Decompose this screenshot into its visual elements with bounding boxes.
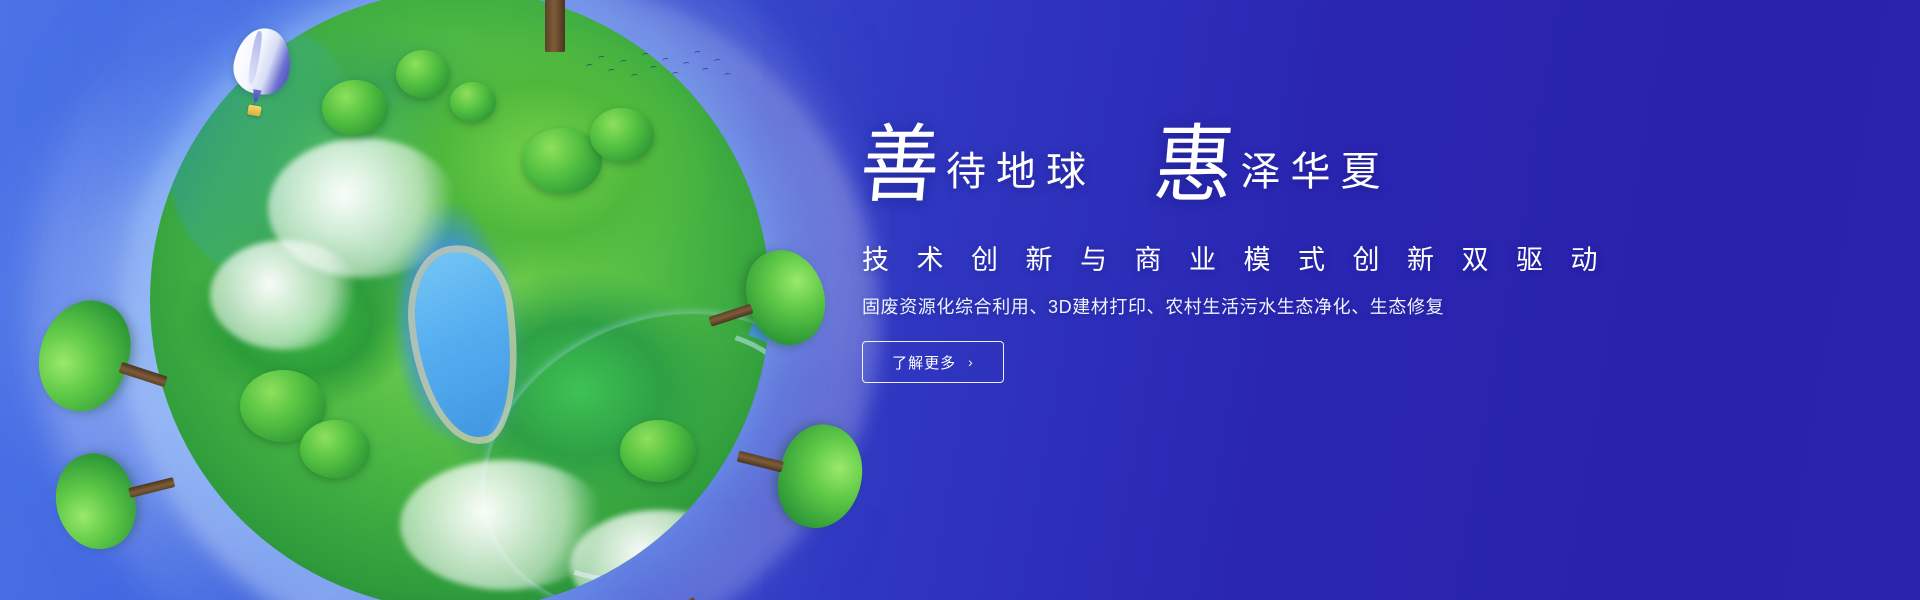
bush-icon [590,108,654,162]
learn-more-label: 了解更多 [892,352,956,373]
bush-icon [396,50,450,98]
balloon-basket [247,105,262,117]
tree-trunk [119,362,168,387]
headline-lead-char-2: 惠 [1151,123,1237,208]
headline-rest-2: 泽华夏 [1240,152,1390,192]
tree-trunk [737,451,784,473]
hero-description: 固废资源化综合利用、3D建材打印、农村生活污水生态净化、生态修复 [862,293,1762,319]
chevron-right-icon: › [968,355,974,369]
balloon-envelope [229,24,296,99]
tree-icon [440,0,670,52]
cloud-icon [210,240,360,350]
bush-icon [300,420,370,478]
tree-crown [25,289,143,423]
hero-banner: 善 待地球 惠 泽华夏 技 术 创 新 与 商 业 模 式 创 新 双 驱 动 … [0,0,1920,600]
tree-crown [768,416,873,537]
tree-crown [735,240,837,355]
hero-content: 善 待地球 惠 泽华夏 技 术 创 新 与 商 业 模 式 创 新 双 驱 动 … [862,128,1762,383]
bird-flock-icon [584,48,734,92]
bush-icon [322,80,388,136]
headline-rest-1: 待地球 [946,152,1096,192]
tree-trunk [708,304,753,327]
page-title: 善 待地球 惠 泽华夏 [862,128,1762,220]
tree-trunk [545,0,565,52]
bush-icon [620,420,696,482]
learn-more-button[interactable]: 了解更多 › [862,341,1004,383]
hero-subtitle: 技 术 创 新 与 商 业 模 式 创 新 双 驱 动 [862,238,1762,277]
tree-trunk [128,477,175,498]
lake-icon [409,248,520,443]
headline-phrase-1: 善 待地球 [862,128,1096,204]
tree-icon [46,435,186,557]
tree-crown [46,446,145,558]
headline-lead-char-1: 善 [857,123,943,208]
headline-phrase-2: 惠 泽华夏 [1156,128,1390,204]
bush-icon [450,82,496,122]
